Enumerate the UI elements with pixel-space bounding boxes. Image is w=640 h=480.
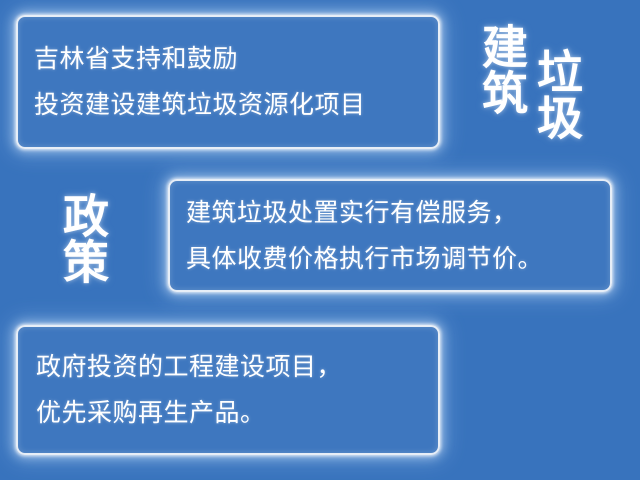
callout-middle-line-2: 具体收费价格执行市场调节价。 bbox=[186, 236, 606, 282]
headline-jianzhu: 建筑 bbox=[477, 23, 527, 115]
callout-text-middle: 建筑垃圾处置实行有偿服务， 具体收费价格执行市场调节价。 bbox=[186, 179, 606, 292]
callout-bottom-line-1: 政府投资的工程建设项目， bbox=[36, 344, 436, 390]
headline-zhengce: 政策 bbox=[58, 192, 108, 284]
callout-text-top: 吉林省支持和鼓励 投资建设建筑垃圾资源化项目 bbox=[34, 15, 434, 149]
headline-laji: 垃圾 bbox=[532, 48, 582, 140]
callout-text-bottom: 政府投资的工程建设项目， 优先采购再生产品。 bbox=[36, 325, 436, 455]
callout-top-line-1: 吉林省支持和鼓励 bbox=[34, 36, 434, 82]
poster-canvas: 吉林省支持和鼓励 投资建设建筑垃圾资源化项目 建筑 垃圾 政策 建筑垃圾处置实行… bbox=[0, 0, 640, 480]
callout-bottom-line-2: 优先采购再生产品。 bbox=[36, 390, 436, 436]
callout-middle-line-1: 建筑垃圾处置实行有偿服务， bbox=[186, 190, 606, 236]
callout-top-line-2: 投资建设建筑垃圾资源化项目 bbox=[34, 82, 434, 128]
